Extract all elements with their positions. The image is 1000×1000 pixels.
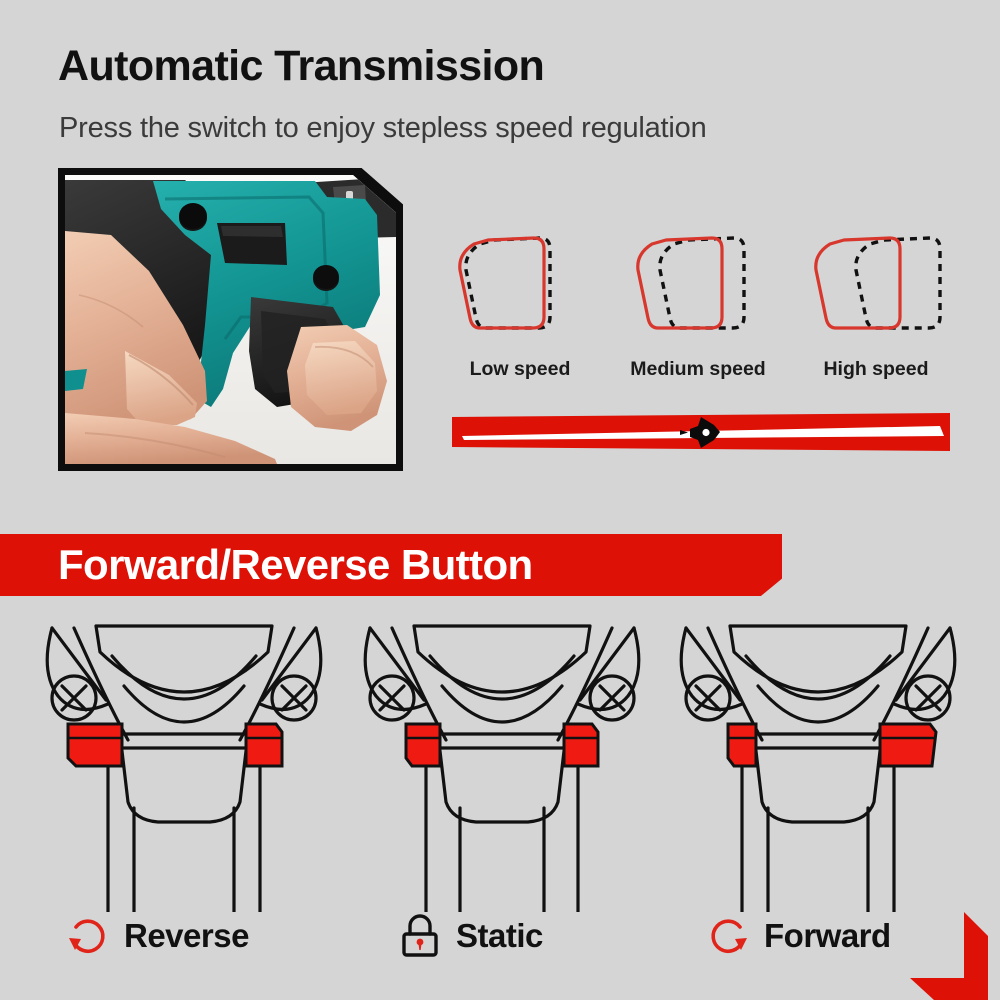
direction-button-right-forward[interactable] <box>880 724 936 766</box>
direction-footer-forward: Forward <box>706 908 891 964</box>
padlock-icon <box>398 914 442 958</box>
direction-diagram-reverse <box>24 612 344 912</box>
trigger-label-high-speed: High speed <box>796 358 956 381</box>
trigger-shape-low-speed <box>440 222 600 350</box>
page-title: Automatic Transmission <box>58 42 544 91</box>
direction-diagram-static <box>342 612 662 912</box>
trigger-label-low-speed: Low speed <box>440 358 600 381</box>
page-subtitle: Press the switch to enjoy stepless speed… <box>59 112 707 145</box>
counter-clockwise-arrow-icon <box>66 914 110 958</box>
direction-footer-reverse: Reverse <box>66 908 249 964</box>
direction-diagram-forward <box>658 612 978 912</box>
forward-reverse-banner: Forward/Reverse Button <box>0 534 782 596</box>
tool-head-art-reverse <box>24 612 344 912</box>
trigger-label-medium-speed: Medium speed <box>618 358 778 381</box>
trigger-shape-medium-speed <box>618 222 778 350</box>
direction-button-left-reverse[interactable] <box>68 724 122 766</box>
hand-gripping-impact-wrench-trigger-photo <box>65 175 396 464</box>
direction-button-right-reverse[interactable] <box>246 724 282 766</box>
clockwise-arrow-icon <box>706 914 750 958</box>
direction-label-reverse: Reverse <box>124 917 249 955</box>
direction-button-left-static[interactable] <box>406 724 440 766</box>
tool-head-art-static <box>342 612 662 912</box>
direction-label-static: Static <box>456 917 543 955</box>
trigger-diagram-medium-speed: Medium speed <box>618 222 778 381</box>
direction-footer-static: Static <box>398 908 543 964</box>
direction-button-left-forward[interactable] <box>728 724 756 766</box>
automatic-transmission-section: Automatic Transmission Press the switch … <box>0 0 1000 520</box>
corner-bracket-accent <box>908 908 1000 1000</box>
trigger-shape-high-speed <box>796 222 956 350</box>
product-photo-frame <box>58 168 403 471</box>
trigger-diagram-high-speed: High speed <box>796 222 956 381</box>
direction-label-forward: Forward <box>764 917 891 955</box>
trigger-diagram-low-speed: Low speed <box>440 222 600 381</box>
speed-regulation-bar[interactable] <box>452 411 950 455</box>
direction-button-right-static[interactable] <box>564 724 598 766</box>
forward-reverse-banner-title: Forward/Reverse Button <box>58 541 533 589</box>
tool-head-art-forward <box>658 612 978 912</box>
